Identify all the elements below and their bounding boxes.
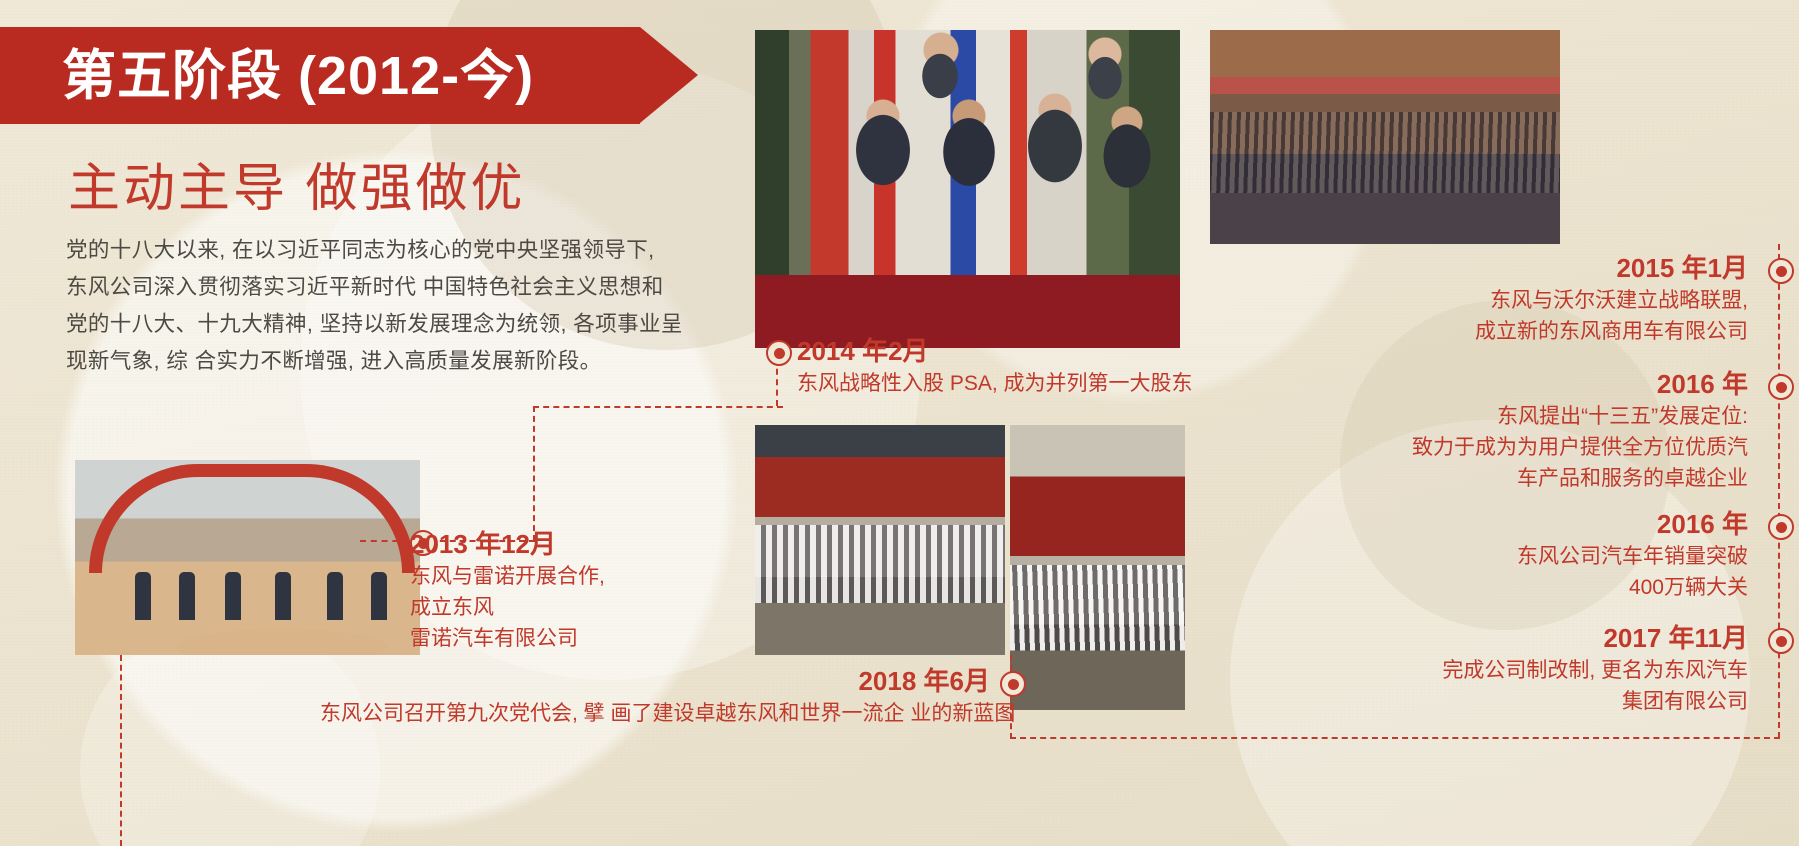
timeline-connector-left bbox=[120, 655, 122, 846]
subtitle: 主动主导 做强做优 bbox=[68, 146, 525, 221]
timeline-node-2015[interactable] bbox=[1768, 258, 1794, 284]
paragraph-line: 现新气象, 综 合实力不断增强, 进入高质量发展新阶段。 bbox=[66, 343, 738, 380]
photo-groundbreaking-ceremony bbox=[75, 460, 420, 655]
event-desc-line: 东风战略性入股 PSA, 成为并列第一大股东 bbox=[797, 368, 1193, 399]
photo-auditorium-delegates bbox=[1010, 425, 1185, 710]
timeline-connector-2013-v bbox=[533, 406, 535, 541]
event-2014[interactable]: 2014 年2月 东风战略性入股 PSA, 成为并列第一大股东 bbox=[797, 335, 1193, 399]
event-desc-line: 东风公司汽车年销量突破 bbox=[1218, 541, 1748, 572]
person-figure bbox=[275, 572, 291, 620]
paragraph-line: 党的十八大以来, 在以习近平同志为核心的党中央坚强领导下, bbox=[66, 232, 738, 269]
paragraph-line: 党的十八大、十九大精神, 坚持以新发展理念为统领, 各项事业呈 bbox=[66, 306, 738, 343]
page-title: 第五阶段 (2012-今) bbox=[62, 49, 534, 103]
event-desc-line: 致力于成为为用户提供全方位优质汽 bbox=[1218, 432, 1748, 463]
event-desc-line: 雷诺汽车有限公司 bbox=[410, 623, 605, 654]
event-2017[interactable]: 2017 年11月 完成公司制改制, 更名为东风汽车 集团有限公司 bbox=[1218, 622, 1748, 717]
photo-image bbox=[1010, 425, 1185, 710]
timeline-connector-top-h bbox=[533, 406, 783, 408]
event-date: 2014 年2月 bbox=[797, 335, 1193, 368]
event-date: 2016 年 bbox=[1218, 368, 1748, 401]
event-2016-sales[interactable]: 2016 年 东风公司汽车年销量突破 400万辆大关 bbox=[1218, 508, 1748, 603]
event-desc-line: 成立新的东风商用车有限公司 bbox=[1218, 316, 1748, 347]
event-2015[interactable]: 2015 年1月 东风与沃尔沃建立战略联盟, 成立新的东风商用车有限公司 bbox=[1218, 252, 1748, 347]
timeline-node-2016b[interactable] bbox=[1768, 514, 1794, 540]
event-date: 2017 年11月 bbox=[1218, 622, 1748, 655]
timeline-rail-right bbox=[1778, 244, 1780, 738]
photo-image bbox=[1210, 30, 1560, 244]
event-desc-line: 集团有限公司 bbox=[1218, 686, 1748, 717]
intro-paragraph: 党的十八大以来, 在以习近平同志为核心的党中央坚强领导下, 东风公司深入贯彻落实… bbox=[66, 232, 738, 380]
photo-party-congress bbox=[755, 425, 1005, 655]
timeline-node-2017[interactable] bbox=[1768, 628, 1794, 654]
person-figure bbox=[135, 572, 151, 620]
paragraph-line: 东风公司深入贯彻落实习近平新时代 中国特色社会主义思想和 bbox=[66, 269, 738, 306]
stage-banner: 第五阶段 (2012-今) bbox=[0, 27, 640, 124]
infographic-page: 第五阶段 (2012-今) 主动主导 做强做优 党的十八大以来, 在以习近平同志… bbox=[0, 0, 1799, 846]
photo-conference-hall bbox=[1210, 30, 1560, 244]
photo-image bbox=[755, 30, 1180, 348]
event-2018[interactable]: 2018 年6月 东风公司召开第九次党代会, 擘 画了建设卓越东风和世界一流企 … bbox=[320, 665, 990, 729]
event-desc-line: 车产品和服务的卓越企业 bbox=[1218, 463, 1748, 494]
event-desc-line: 完成公司制改制, 更名为东风汽车 bbox=[1218, 655, 1748, 686]
event-date: 2016 年 bbox=[1218, 508, 1748, 541]
timeline-node-2014[interactable] bbox=[766, 340, 792, 366]
timeline-rail-bottom bbox=[1010, 737, 1780, 739]
event-date: 2013 年12月 bbox=[410, 528, 605, 561]
timeline-node-2018[interactable] bbox=[1000, 671, 1026, 697]
event-desc-line: 东风与雷诺开展合作, bbox=[410, 561, 605, 592]
event-desc-line: 东风与沃尔沃建立战略联盟, bbox=[1218, 285, 1748, 316]
photo-image bbox=[755, 425, 1005, 655]
event-desc-line: 400万辆大关 bbox=[1218, 572, 1748, 603]
person-figure bbox=[327, 572, 343, 620]
event-2016-positioning[interactable]: 2016 年 东风提出“十三五”发展定位: 致力于成为为用户提供全方位优质汽 车… bbox=[1218, 368, 1748, 494]
event-desc-line: 东风提出“十三五”发展定位: bbox=[1218, 401, 1748, 432]
person-figure bbox=[225, 572, 241, 620]
timeline-connector-2018 bbox=[1010, 655, 1012, 739]
event-2013[interactable]: 2013 年12月 东风与雷诺开展合作, 成立东风 雷诺汽车有限公司 bbox=[410, 528, 605, 654]
event-date: 2018 年6月 bbox=[320, 665, 990, 698]
event-desc-line: 成立东风 bbox=[410, 592, 605, 623]
event-date: 2015 年1月 bbox=[1218, 252, 1748, 285]
person-figure bbox=[179, 572, 195, 620]
timeline-node-2016a[interactable] bbox=[1768, 374, 1794, 400]
event-desc-line: 东风公司召开第九次党代会, 擘 画了建设卓越东风和世界一流企 业的新蓝图 bbox=[320, 698, 990, 729]
photo-china-france-signing bbox=[755, 30, 1180, 348]
person-figure bbox=[371, 572, 387, 620]
